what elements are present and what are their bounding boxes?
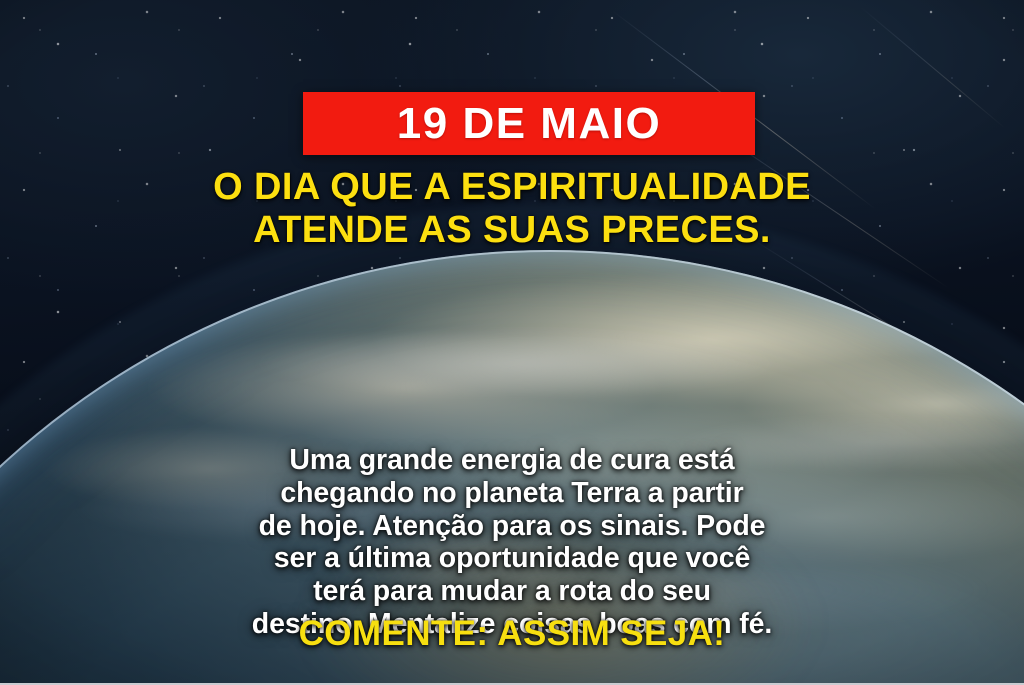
body-line-3: de hoje. Atenção para os sinais. Pode: [62, 510, 962, 543]
body-line-2: chegando no planeta Terra a partir: [62, 477, 962, 510]
call-to-action: COMENTE: ASSIM SEJA!: [0, 616, 1024, 651]
poster-image: 19 DE MAIO O DIA QUE A ESPIRITUALIDADE A…: [0, 0, 1024, 685]
body-line-4: ser a última oportunidade que você: [62, 542, 962, 575]
body-paragraph: Uma grande energia de cura está chegando…: [62, 444, 962, 641]
headline-line-2: ATENDE AS SUAS PRECES.: [0, 209, 1024, 252]
date-banner: 19 DE MAIO: [303, 92, 755, 155]
date-banner-label: 19 DE MAIO: [397, 102, 661, 146]
body-line-5: terá para mudar a rota do seu: [62, 575, 962, 608]
headline-line-1: O DIA QUE A ESPIRITUALIDADE: [0, 166, 1024, 209]
call-to-action-label: COMENTE: ASSIM SEJA!: [299, 614, 726, 653]
body-line-1: Uma grande energia de cura está: [62, 444, 962, 477]
headline: O DIA QUE A ESPIRITUALIDADE ATENDE AS SU…: [0, 166, 1024, 253]
poster-content: 19 DE MAIO O DIA QUE A ESPIRITUALIDADE A…: [0, 0, 1024, 683]
